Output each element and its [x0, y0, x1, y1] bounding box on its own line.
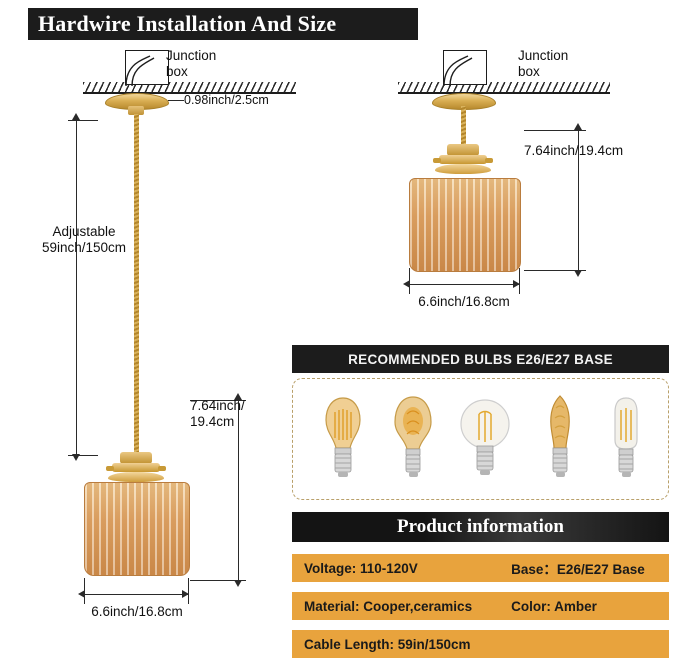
shade-right-height-tick-bottom	[524, 270, 586, 271]
canopy-size-label: 0.98inch/2.5cm	[184, 93, 324, 107]
shade-right	[409, 178, 521, 272]
product-information-title: Product information	[397, 516, 564, 538]
bulb-st58-led-filament-icon	[320, 394, 366, 484]
shade-left-ribs	[85, 483, 189, 575]
junction-box-right-label: Junction box	[518, 48, 608, 79]
shade-right-height-tick-top	[524, 130, 586, 131]
product-info-cell-material: Material: Cooper,ceramics	[304, 599, 511, 614]
product-info-row: Voltage: 110-120V Base：E26/E27 Base	[292, 554, 669, 582]
shade-right-height-arrow-bottom	[574, 270, 582, 277]
shade-left-height-tick-bottom	[190, 580, 246, 581]
socket-left-knob-a	[106, 466, 114, 471]
bulb-candle-gold-icon	[538, 394, 582, 484]
shade-left-width-tick-right	[188, 578, 189, 604]
bulb-g95-globe-icon	[458, 394, 512, 484]
bulb-t45-tube-icon	[604, 394, 648, 484]
socket-right-cap	[439, 155, 487, 164]
socket-right-knob-a	[433, 158, 441, 163]
product-info-row: Cable Length: 59in/150cm	[292, 630, 669, 658]
socket-right-knob-b	[485, 158, 493, 163]
shade-left-width-tick-left	[84, 578, 85, 604]
canopy-size-dim-line	[168, 100, 184, 101]
recommended-bulbs-title: RECOMMENDED BULBS E26/E27 BASE	[348, 352, 613, 367]
adjustable-dim-tick-top	[68, 120, 98, 121]
shade-right-top-ring	[435, 164, 491, 174]
page-title-banner: Hardwire Installation And Size	[28, 8, 418, 40]
shade-right-width-dim-line	[409, 284, 519, 285]
product-info-cell-base: Base：E26/E27 Base	[511, 558, 669, 578]
shade-right-width-tick-left	[409, 268, 410, 294]
adjustable-dim-line	[76, 120, 77, 454]
shade-right-width-label: 6.6inch/16.8cm	[398, 294, 530, 310]
junction-box-left-label: Junction box	[166, 48, 256, 79]
shade-right-height-label: 7.64inch/19.4cm	[524, 143, 674, 159]
adjustable-dim-tick-bottom	[68, 455, 98, 456]
socket-left-knob-b	[158, 466, 166, 471]
cord-right	[461, 106, 466, 146]
shade-right-height-arrow-top	[574, 123, 582, 130]
shade-right-width-tick-right	[519, 268, 520, 294]
recommended-bulbs-header: RECOMMENDED BULBS E26/E27 BASE	[292, 345, 669, 373]
socket-left-cap	[112, 463, 160, 472]
shade-left-height-arrow-bottom	[234, 580, 242, 587]
shade-left	[84, 482, 190, 576]
bulb-st64-amber-icon	[390, 394, 436, 484]
shade-left-top-ring	[108, 472, 164, 482]
product-info-cell-voltage: Voltage: 110-120V	[304, 561, 511, 576]
cord-left	[134, 114, 139, 454]
shade-right-ribs	[410, 179, 520, 271]
junction-box-left-wires	[112, 52, 172, 88]
product-info-cell-color: Color: Amber	[511, 599, 669, 614]
adjustable-dim-arrow-top	[72, 113, 80, 120]
product-info-cell-cable-length: Cable Length: 59in/150cm	[304, 637, 541, 652]
product-info-row: Material: Cooper,ceramics Color: Amber	[292, 592, 669, 620]
adjustable-label: Adjustable 59inch/150cm	[24, 224, 144, 255]
shade-left-height-label: 7.64inch/ 19.4cm	[190, 398, 290, 429]
page-title: Hardwire Installation And Size	[28, 11, 336, 37]
shade-left-width-dim-line	[84, 594, 188, 595]
product-information-header: Product information	[292, 512, 669, 542]
shade-left-width-label: 6.6inch/16.8cm	[72, 604, 202, 620]
junction-box-right-wires	[430, 52, 490, 88]
